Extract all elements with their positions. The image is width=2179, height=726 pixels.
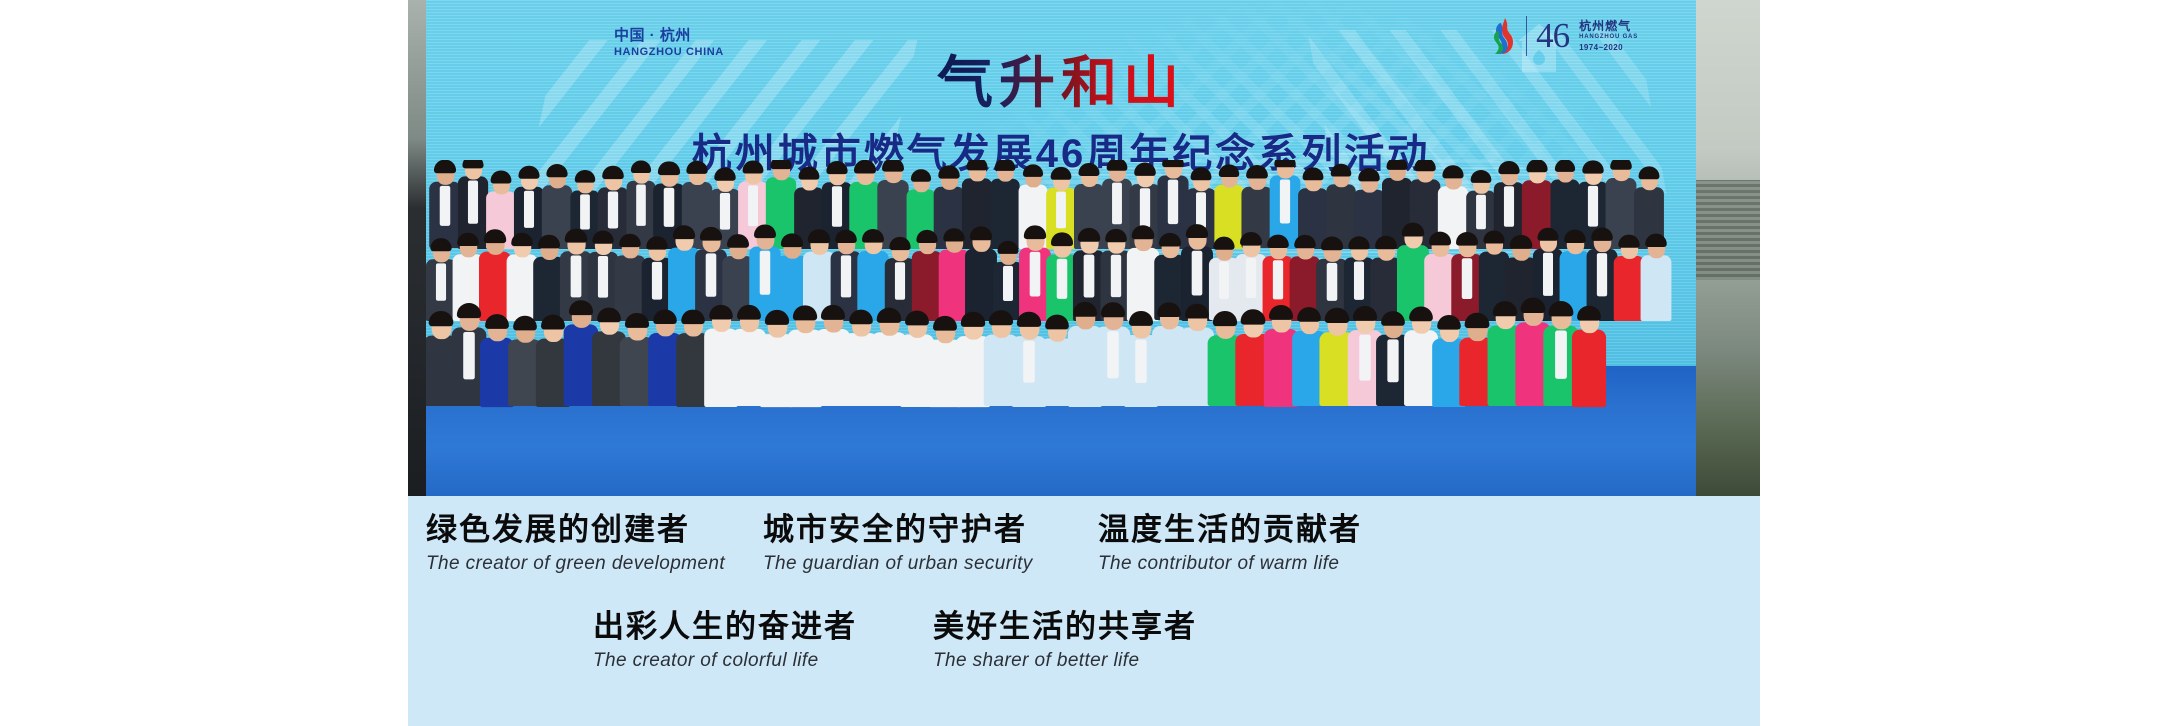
crowd-row-front [426, 318, 1696, 406]
group-photo: 中国 · 杭州 HANGZHOU CHINA 46 杭州燃气 HANGZHOU … [408, 0, 1760, 496]
venue-wall-right [1696, 0, 1760, 496]
slogan-4-cn: 美好生活的共享者 [933, 608, 1197, 646]
hangzhou-gas-logo: 46 杭州燃气 HANGZHOU GAS 1974~2020 [1491, 16, 1638, 56]
location-label-cn: 中国 · 杭州 [614, 26, 724, 45]
slogan-2-cn: 温度生活的贡献者 [1098, 511, 1362, 549]
slogan-0: 绿色发展的创建者 The creator of green developmen… [426, 511, 725, 577]
poster-page: 中国 · 杭州 HANGZHOU CHINA 46 杭州燃气 HANGZHOU … [0, 0, 2179, 726]
slogan-1-cn: 城市安全的守护者 [763, 511, 1033, 549]
logo-divider [1526, 16, 1527, 56]
venue-wall-left [408, 0, 426, 496]
slogan-2: 温度生活的贡献者 The contributor of warm life [1098, 511, 1362, 577]
poster-content-column: 中国 · 杭州 HANGZHOU CHINA 46 杭州燃气 HANGZHOU … [408, 0, 1760, 726]
slogan-1: 城市安全的守护者 The guardian of urban security [763, 511, 1033, 577]
slogan-0-en: The creator of green development [426, 551, 725, 577]
crowd-of-attendees [426, 160, 1696, 496]
person [1572, 310, 1606, 406]
person [912, 234, 942, 321]
logo-company-block: 杭州燃气 HANGZHOU GAS 1974~2020 [1579, 19, 1638, 53]
flame-icon [1491, 17, 1517, 55]
slogan-1-en: The guardian of urban security [763, 551, 1033, 577]
slogan-3-cn: 出彩人生的奋进者 [593, 608, 857, 646]
slogan-3: 出彩人生的奋进者 The creator of colorful life [593, 608, 857, 674]
brandmark-title: 气升和山 [426, 52, 1696, 114]
slogan-2-en: The contributor of warm life [1098, 551, 1362, 577]
logo-company-cn: 杭州燃气 [1579, 19, 1638, 33]
brandmark-text: 气升和山 [937, 51, 1185, 114]
slogan-3-en: The creator of colorful life [593, 648, 857, 674]
person [1641, 238, 1672, 321]
slogan-panel: 绿色发展的创建者 The creator of green developmen… [408, 496, 1760, 726]
logo-company-en: HANGZHOU GAS [1579, 33, 1638, 41]
slogan-4-en: The sharer of better life [933, 648, 1197, 674]
slogan-4: 美好生活的共享者 The sharer of better life [933, 608, 1197, 674]
slogan-0-cn: 绿色发展的创建者 [426, 511, 725, 549]
anniversary-number: 46 [1536, 17, 1569, 55]
